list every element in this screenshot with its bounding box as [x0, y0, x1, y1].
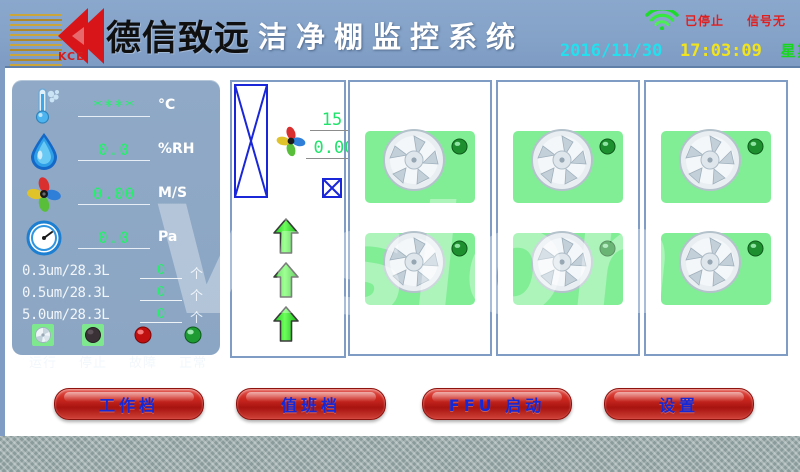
ffu-impeller-icon [675, 227, 745, 297]
airspeed-value: 0.00 [78, 184, 150, 205]
green-led-icon [599, 138, 616, 155]
pressure-gauge-icon [24, 218, 64, 258]
fan-icon [274, 124, 308, 158]
legend-item-stopped: 停止 [70, 324, 116, 368]
ffu-unit[interactable] [365, 233, 475, 305]
up-arrow-icon [272, 262, 300, 298]
work-mode-button[interactable]: 工作档 [54, 388, 204, 420]
duty-mode-label: 值班档 [281, 392, 341, 416]
red-led-icon [132, 324, 154, 346]
sensor-row-humidity: 0.0 %RH [20, 128, 214, 172]
datetime-display: 2016/11/30 17:03:09 星期三 [560, 40, 800, 62]
sensor-row-temperature: **** °C [20, 84, 214, 128]
legend-item-running: 运行 [20, 324, 66, 368]
airflow-indicator-panel [230, 204, 346, 358]
particle-label: 0.3um/28.3L [22, 263, 109, 279]
ffu-unit[interactable] [365, 131, 475, 203]
particle-value: 0 [140, 263, 182, 279]
work-mode-label: 工作档 [99, 392, 159, 416]
green-led-icon [747, 240, 764, 257]
sensor-row-airspeed: 0.00 M/S [20, 172, 214, 216]
control-panel[interactable]: 15 S 0.00 M/S [230, 80, 346, 206]
legend-label: 运行 [20, 352, 66, 371]
temperature-value: **** [78, 96, 150, 117]
wifi-signal-icon [645, 10, 679, 30]
bottom-texture-band [0, 436, 800, 472]
green-led-icon [451, 240, 468, 257]
ffu-impeller-icon [379, 125, 449, 195]
up-arrow-icon [272, 218, 300, 254]
settings-button[interactable]: 设置 [604, 388, 754, 420]
ffu-column [496, 80, 640, 356]
particle-unit: 个 [190, 263, 203, 282]
ffu-grid [348, 80, 788, 356]
left-rail [0, 66, 5, 436]
legend-label: 正常 [170, 352, 216, 371]
green-led-icon [747, 138, 764, 155]
ffu-unit[interactable] [513, 131, 623, 203]
ffu-column [348, 80, 492, 356]
bowtie-damper-small-icon[interactable] [322, 178, 342, 198]
green-led-icon [599, 240, 616, 257]
ffu-impeller-icon [527, 227, 597, 297]
legend-item-normal: 正常 [170, 324, 216, 368]
logo-brand-text: 德信致远 [106, 10, 250, 61]
ffu-impeller-icon [675, 125, 745, 195]
bowtie-damper-icon[interactable] [234, 84, 268, 198]
connection-status: 已停止 信号无 [645, 10, 795, 32]
ffu-unit[interactable] [661, 233, 771, 305]
fan-icon [24, 174, 64, 214]
duty-mode-button[interactable]: 值班档 [236, 388, 386, 420]
particle-row-05um: 0.5um/28.3L 0 个 [22, 282, 218, 304]
ffu-unit[interactable] [661, 131, 771, 203]
particle-row-03um: 0.3um/28.3L 0 个 [22, 260, 218, 282]
pressure-value: 0.0 [78, 228, 150, 249]
ffu-impeller-icon [527, 125, 597, 195]
ffu-column [644, 80, 788, 356]
status-legend: 运行 停止 故障 正常 [20, 324, 216, 368]
green-led-icon [451, 138, 468, 155]
fan-stopped-icon [82, 324, 104, 346]
button-bar: 工作档 值班档 FFU 启动 设置 [0, 388, 800, 422]
page-title: 洁净棚监控系统 [258, 14, 524, 56]
logo-kce-text: KCE [58, 50, 85, 63]
particle-row-50um: 5.0um/28.3L 0 个 [22, 304, 218, 326]
particle-label: 5.0um/28.3L [22, 307, 109, 323]
fan-running-icon [32, 324, 54, 346]
ffu-impeller-icon [379, 227, 449, 297]
app-header: KCE 德信致远 洁净棚监控系统 已停止 信号无 2016/11/30 17:0… [0, 0, 800, 68]
company-logo: KCE 德信致远 [8, 6, 248, 62]
settings-label: 设置 [659, 392, 699, 416]
temperature-unit: °C [158, 97, 175, 113]
legend-label: 故障 [120, 352, 166, 371]
sensor-row-pressure: 0.0 Pa [20, 216, 214, 260]
airspeed-unit: M/S [158, 185, 187, 201]
particle-value: 0 [140, 307, 182, 323]
legend-label: 停止 [70, 352, 116, 371]
ffu-start-button[interactable]: FFU 启动 [422, 388, 572, 420]
date-text: 2016/11/30 [560, 41, 662, 61]
water-drop-icon [24, 130, 64, 170]
ffu-start-label: FFU 启动 [449, 392, 545, 416]
up-arrow-icon [272, 306, 300, 342]
green-led-icon [182, 324, 204, 346]
weekday-text: 星期三 [781, 42, 800, 60]
legend-item-fault: 故障 [120, 324, 166, 368]
humidity-value: 0.0 [78, 140, 150, 161]
particle-unit: 个 [190, 285, 203, 304]
signal-badge: 信号无 [747, 12, 786, 29]
sensor-panel: **** °C 0.0 %RH 0.00 M/S 0. [12, 80, 220, 355]
pressure-unit: Pa [158, 229, 177, 245]
time-text: 17:03:09 [680, 41, 762, 61]
status-badge: 已停止 [685, 12, 724, 29]
thermometer-icon [24, 86, 64, 126]
ffu-unit[interactable] [513, 233, 623, 305]
particle-value: 0 [140, 285, 182, 301]
particle-label: 0.5um/28.3L [22, 285, 109, 301]
humidity-unit: %RH [158, 141, 195, 157]
